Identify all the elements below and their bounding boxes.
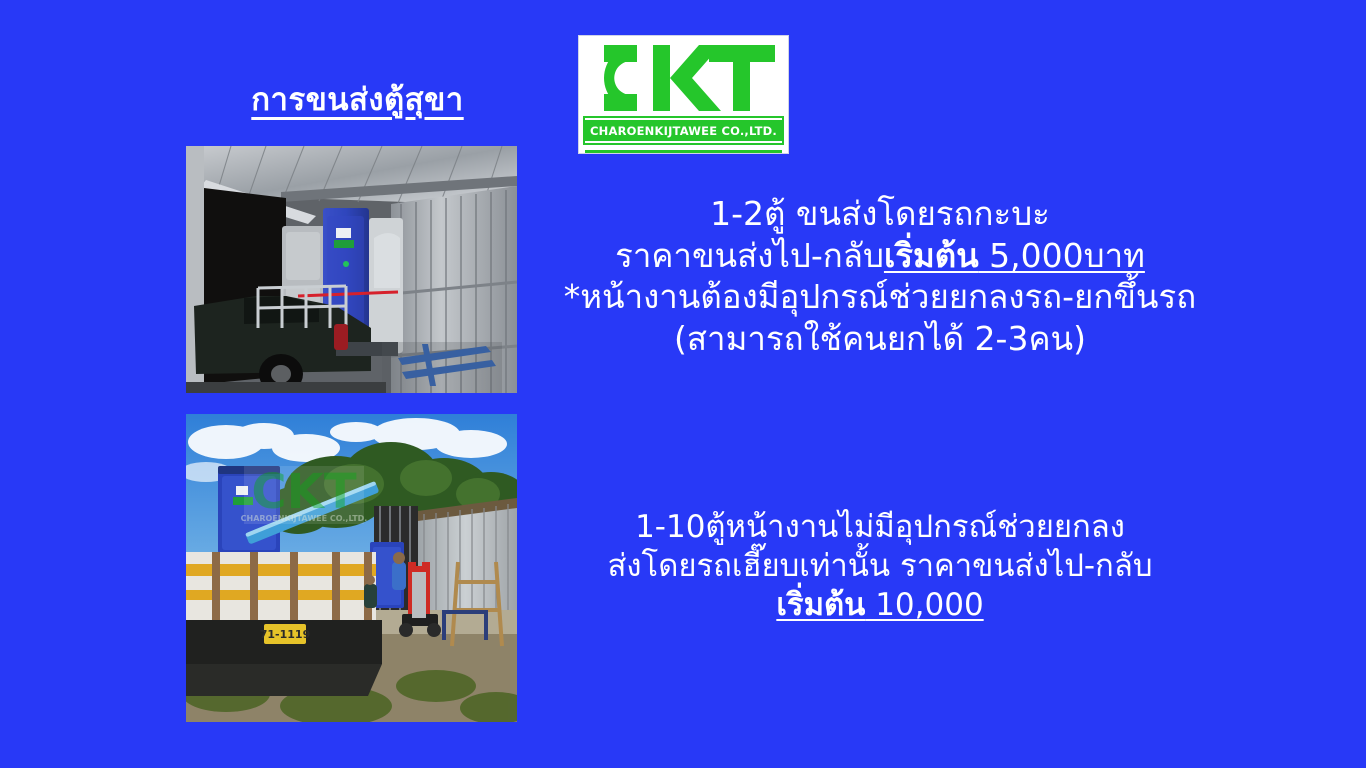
svg-text:CKT: CKT: [251, 464, 356, 520]
ckt-monogram-icon: [579, 36, 788, 118]
pickup-line-4: (สามารถใช้คนยกได้ 2-3คน): [500, 318, 1260, 360]
pickup-line-1: 1-2ตู้ ขนส่งโดยรถกะบะ: [500, 193, 1260, 235]
logo-underline-rule: [585, 150, 782, 153]
logo-company-name: CHAROENKIJTAWEE CO.,LTD.: [585, 118, 782, 143]
ckt-watermark-icon: CKT CHAROENKIJTAWEE CO.,LTD.: [241, 464, 368, 524]
svg-text:71-1119: 71-1119: [260, 628, 311, 641]
company-logo: CHAROENKIJTAWEE CO.,LTD.: [578, 35, 789, 154]
crane-price-value: 10,000: [865, 587, 983, 623]
pickup-line-3: *หน้างานต้องมีอุปกรณ์ช่วยยกลงรถ-ยกขึ้นรถ: [500, 276, 1260, 318]
crane-price-prefix: เริ่มต้น: [776, 587, 865, 623]
logo-company-bar-wrap: CHAROENKIJTAWEE CO.,LTD.: [579, 118, 788, 147]
crane-line-1: 1-10ตู้หน้างานไม่มีอุปกรณ์ช่วยยกลง: [520, 508, 1240, 547]
pickup-line-2-plain: ราคาขนส่งไป-กลับ: [615, 236, 884, 275]
crane-line-2: ส่งโดยรถเฮี๊ยบเท่านั้น ราคาขนส่งไป-กลับ: [520, 547, 1240, 586]
text-block-crane: 1-10ตู้หน้างานไม่มีอุปกรณ์ช่วยยกลง ส่งโด…: [520, 508, 1240, 625]
svg-text:CHAROENKIJTAWEE CO.,LTD.: CHAROENKIJTAWEE CO.,LTD.: [241, 514, 368, 523]
pickup-price-prefix: เริ่มต้น: [884, 236, 979, 275]
pickup-price-value: 5,000บาท: [979, 236, 1145, 275]
pickup-line-2: ราคาขนส่งไป-กลับเริ่มต้น 5,000บาท: [500, 235, 1260, 277]
photo-warehouse: [186, 146, 517, 393]
text-block-pickup: 1-2ตู้ ขนส่งโดยรถกะบะ ราคาขนส่งไป-กลับเร…: [500, 193, 1260, 359]
slide-root: การขนส่งตู้สุขา CHAROENKIJTAWEE CO.,LTD.: [0, 0, 1366, 768]
page-title: การขนส่งตู้สุขา: [185, 74, 530, 124]
photo-crane: 71-1119: [186, 414, 517, 722]
crane-line-3: เริ่มต้น 10,000: [520, 586, 1240, 625]
